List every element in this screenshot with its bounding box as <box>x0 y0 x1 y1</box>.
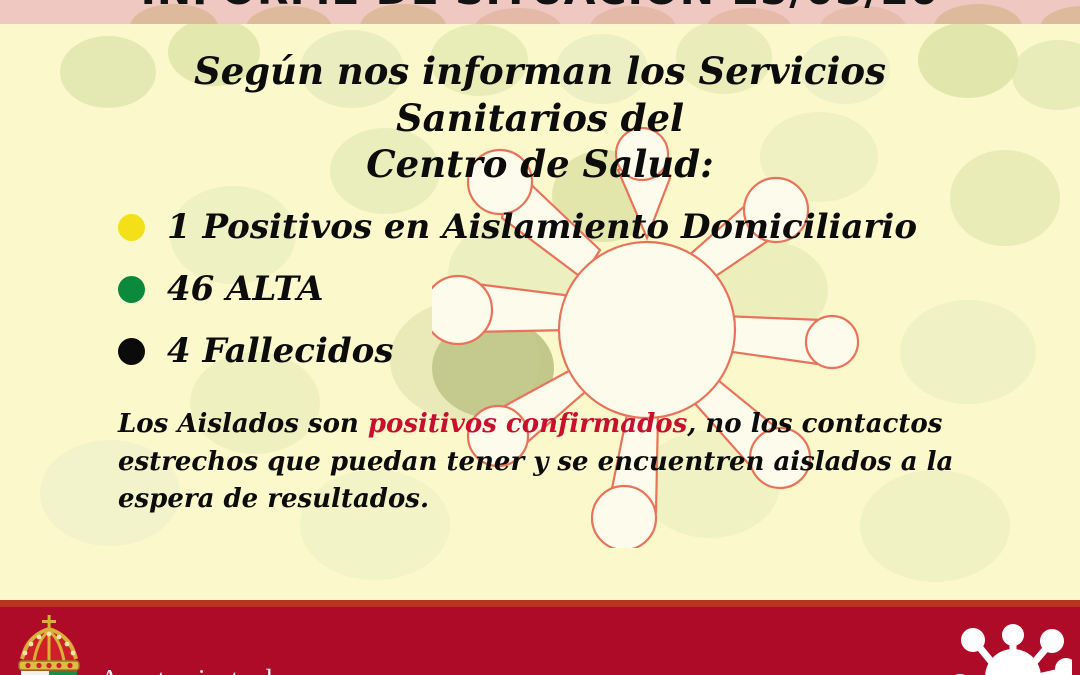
disclaimer-note: Los Aislados son positivos confirmados, … <box>118 406 978 519</box>
bullet-dot-yellow <box>118 214 145 241</box>
stat-label: 1 Positivos en Aislamiento Domiciliario <box>167 207 917 247</box>
bullet-dot-green <box>118 276 145 303</box>
disclaimer-highlight: positivos confirmados <box>368 409 687 439</box>
royal-crown-coat-of-arms-icon <box>8 613 90 675</box>
bullet-dot-black <box>118 338 145 365</box>
headline: Según nos informan los Servicios Sanitar… <box>90 48 990 188</box>
stat-label: 46 ALTA <box>167 269 324 309</box>
covid-status-poster: INFORME DE SITUACIÓN 15/05/20 Según nos … <box>0 0 1080 675</box>
disclaimer-part-1: Los Aislados son <box>118 409 368 439</box>
coronavirus-icon <box>954 615 1072 675</box>
headline-line-2: Centro de Salud: <box>90 141 990 188</box>
stats-list: 1 Positivos en Aislamiento Domiciliario … <box>118 196 978 382</box>
stat-row: 1 Positivos en Aislamiento Domiciliario <box>118 196 978 258</box>
headline-line-1: Según nos informan los Servicios Sanitar… <box>90 48 990 141</box>
stat-label: 4 Fallecidos <box>167 331 393 371</box>
poster-title: INFORME DE SITUACIÓN 15/05/20 <box>0 0 1080 14</box>
stat-row: 4 Fallecidos <box>118 320 978 382</box>
poster-content: Según nos informan los Servicios Sanitar… <box>0 0 1080 675</box>
stat-row: 46 ALTA <box>118 258 978 320</box>
footer-bar: Ayuntamiento de <box>0 600 1080 675</box>
footer-org-name: Ayuntamiento de <box>100 664 284 675</box>
